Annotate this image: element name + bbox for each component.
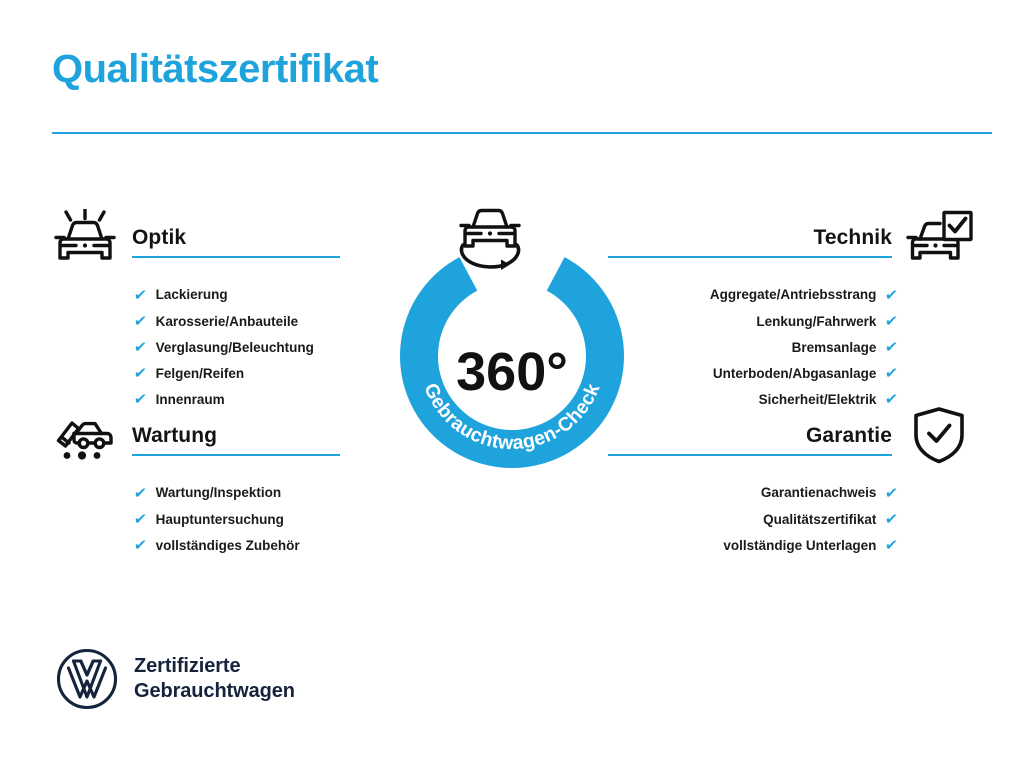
section-optik-divider <box>132 256 340 258</box>
section-optik: Optik ✔Lackierung ✔Karosserie/Anbauteile… <box>48 206 416 413</box>
list-item: ✔Hauptuntersuchung <box>48 506 416 532</box>
list-item-label: Hauptuntersuchung <box>156 513 284 527</box>
check-icon: ✔ <box>885 340 899 355</box>
page-title: Qualitätszertifikat <box>52 46 992 92</box>
list-item: Unterboden/Abgasanlage✔ <box>608 361 976 387</box>
list-item-label: Aggregate/Antriebsstrang <box>710 288 877 302</box>
check-icon: ✔ <box>133 288 147 303</box>
section-garantie: Garantie Garantienachweis✔ Qualitätszert… <box>608 404 976 559</box>
section-wartung-title: Wartung <box>132 424 217 448</box>
section-garantie-title: Garantie <box>806 424 892 448</box>
section-garantie-divider <box>608 454 892 456</box>
section-technik: Technik Aggregate/Antriebsstrang✔ Lenkun… <box>608 206 976 413</box>
check-icon: ✔ <box>885 486 899 501</box>
list-item: Garantienachweis✔ <box>608 480 976 506</box>
check-icon: ✔ <box>133 340 147 355</box>
check-icon: ✔ <box>885 538 899 553</box>
car-shine-icon <box>48 206 122 268</box>
check-icon: ✔ <box>133 512 147 527</box>
list-item-label: Karosserie/Anbauteile <box>156 315 299 329</box>
list-item-label: vollständiges Zubehör <box>156 539 300 553</box>
list-item-label: Bremsanlage <box>792 341 877 355</box>
section-wartung-list: ✔Wartung/Inspektion ✔Hauptuntersuchung ✔… <box>48 480 416 559</box>
check-icon: ✔ <box>885 366 899 381</box>
list-item-label: Unterboden/Abgasanlage <box>713 367 877 381</box>
check-icon: ✔ <box>133 314 147 329</box>
list-item: Lenkung/Fahrwerk✔ <box>608 308 976 334</box>
section-garantie-list: Garantienachweis✔ Qualitätszertifikat✔ v… <box>608 480 976 559</box>
section-optik-list: ✔Lackierung ✔Karosserie/Anbauteile ✔Verg… <box>48 282 416 413</box>
section-wartung-divider <box>132 454 340 456</box>
list-item-label: Lackierung <box>156 288 228 302</box>
section-garantie-header: Garantie <box>608 404 976 466</box>
list-item-label: vollständige Unterlagen <box>723 539 876 553</box>
list-item-label: Garantienachweis <box>761 486 877 500</box>
list-item: ✔Wartung/Inspektion <box>48 480 416 506</box>
section-technik-list: Aggregate/Antriebsstrang✔ Lenkung/Fahrwe… <box>608 282 976 413</box>
brand-wordmark: Zertifizierte Gebrauchtwagen <box>134 654 295 704</box>
360-check-badge: 360° Gebrauchtwagen-Check <box>374 196 650 486</box>
check-icon: ✔ <box>885 512 899 527</box>
list-item: ✔Felgen/Reifen <box>48 361 416 387</box>
list-item: Qualitätszertifikat✔ <box>608 506 976 532</box>
brand-lockup: Zertifizierte Gebrauchtwagen <box>56 648 295 710</box>
list-item: ✔Karosserie/Anbauteile <box>48 308 416 334</box>
section-technik-divider <box>608 256 892 258</box>
check-icon: ✔ <box>885 288 899 303</box>
section-wartung-header: Wartung <box>48 404 416 466</box>
list-item-label: Qualitätszertifikat <box>763 513 876 527</box>
check-icon: ✔ <box>133 538 147 553</box>
list-item-label: Felgen/Reifen <box>156 367 245 381</box>
check-icon: ✔ <box>885 314 899 329</box>
vw-logo-icon <box>56 648 118 710</box>
list-item: Aggregate/Antriebsstrang✔ <box>608 282 976 308</box>
section-wartung: Wartung ✔Wartung/Inspektion ✔Hauptunters… <box>48 404 416 559</box>
check-icon: ✔ <box>133 366 147 381</box>
section-optik-title: Optik <box>132 226 186 250</box>
badge-value: 360° <box>456 342 568 402</box>
list-item: ✔Lackierung <box>48 282 416 308</box>
brand-line-2: Gebrauchtwagen <box>134 679 295 704</box>
car-service-tool-icon <box>48 404 122 466</box>
list-item: vollständige Unterlagen✔ <box>608 532 976 558</box>
car-rotate-icon <box>461 211 519 271</box>
section-technik-title: Technik <box>814 226 893 250</box>
list-item-label: Wartung/Inspektion <box>156 486 282 500</box>
list-item: ✔vollständiges Zubehör <box>48 532 416 558</box>
car-checklist-icon <box>902 206 976 268</box>
shield-check-icon <box>902 404 976 466</box>
check-icon: ✔ <box>133 486 147 501</box>
section-technik-header: Technik <box>608 206 976 268</box>
page-header: Qualitätszertifikat <box>52 46 992 92</box>
section-optik-header: Optik <box>48 206 416 268</box>
list-item: Bremsanlage✔ <box>608 334 976 360</box>
list-item: ✔Verglasung/Beleuchtung <box>48 334 416 360</box>
list-item-label: Lenkung/Fahrwerk <box>756 315 876 329</box>
brand-line-1: Zertifizierte <box>134 654 295 679</box>
title-divider <box>52 132 992 134</box>
certificate-page: Qualitätszertifikat <box>0 0 1024 768</box>
list-item-label: Verglasung/Beleuchtung <box>156 341 314 355</box>
